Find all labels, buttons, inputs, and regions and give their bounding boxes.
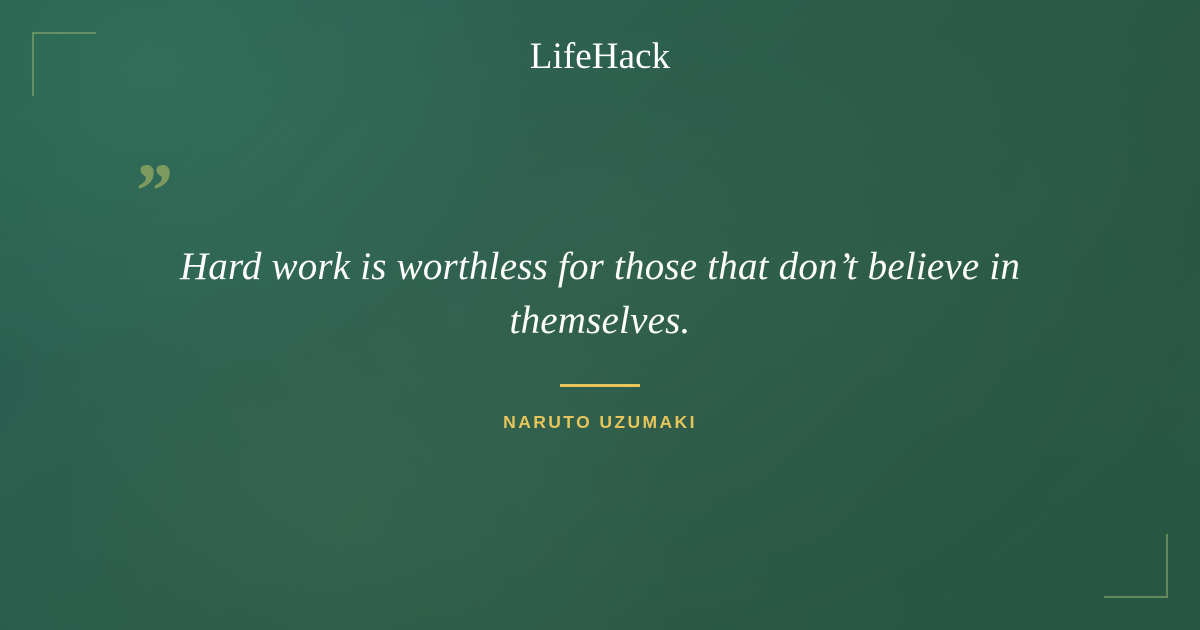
brand-logo[interactable]: LifeHack	[0, 38, 1200, 77]
quote-line-2: themselves.	[140, 294, 1060, 348]
quote-line-1: Hard work is worthless for those that do…	[140, 240, 1060, 294]
quote-card: LifeHack ” Hard work is worthless for th…	[0, 0, 1200, 630]
divider-rule	[560, 384, 640, 387]
corner-bracket-bottom-right-icon	[1104, 534, 1168, 598]
quote-author: NARUTO UZUMAKI	[0, 412, 1200, 433]
quotation-mark-icon: ”	[132, 152, 169, 230]
quote-container: Hard work is worthless for those that do…	[140, 240, 1060, 348]
